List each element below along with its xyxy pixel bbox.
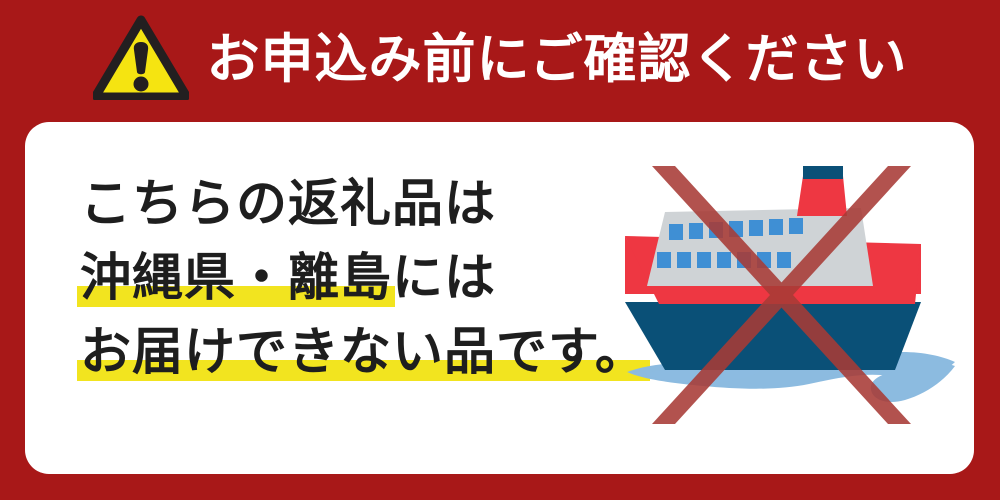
message-line-1-text: こちらの返礼品は (80, 175, 496, 234)
funnel-navy-cap (803, 166, 843, 179)
message-line-3-highlight: お届けできない品です。 (80, 316, 647, 390)
window-row-lower (657, 252, 791, 268)
message-line-1: こちらの返礼品は (80, 168, 640, 242)
funnel-red (797, 176, 847, 216)
message-line-3: お届けできない品です。 (80, 316, 640, 390)
message-line-2-highlight: 沖縄県・離島 (80, 242, 392, 316)
banner-header: お申込み前にご確認ください (0, 0, 1000, 118)
message-line-2-tail: には (392, 249, 496, 308)
notice-banner: お申込み前にご確認ください こちらの返礼品は 沖縄県・離島には お届けできない品… (0, 0, 1000, 500)
notice-message: こちらの返礼品は 沖縄県・離島には お届けできない品です。 (80, 168, 640, 390)
warning-triangle-icon (93, 14, 189, 104)
message-line-2: 沖縄県・離島には (80, 242, 640, 316)
message-line-2-highlight-text: 沖縄県・離島 (80, 249, 392, 308)
message-line-3-highlight-text: お届けできない品です。 (80, 323, 647, 382)
notice-card: こちらの返礼品は 沖縄県・離島には お届けできない品です。 (25, 122, 974, 474)
page-title: お申込み前にご確認ください (207, 33, 908, 86)
ferry-ship-prohibited-illustration (625, 162, 965, 442)
